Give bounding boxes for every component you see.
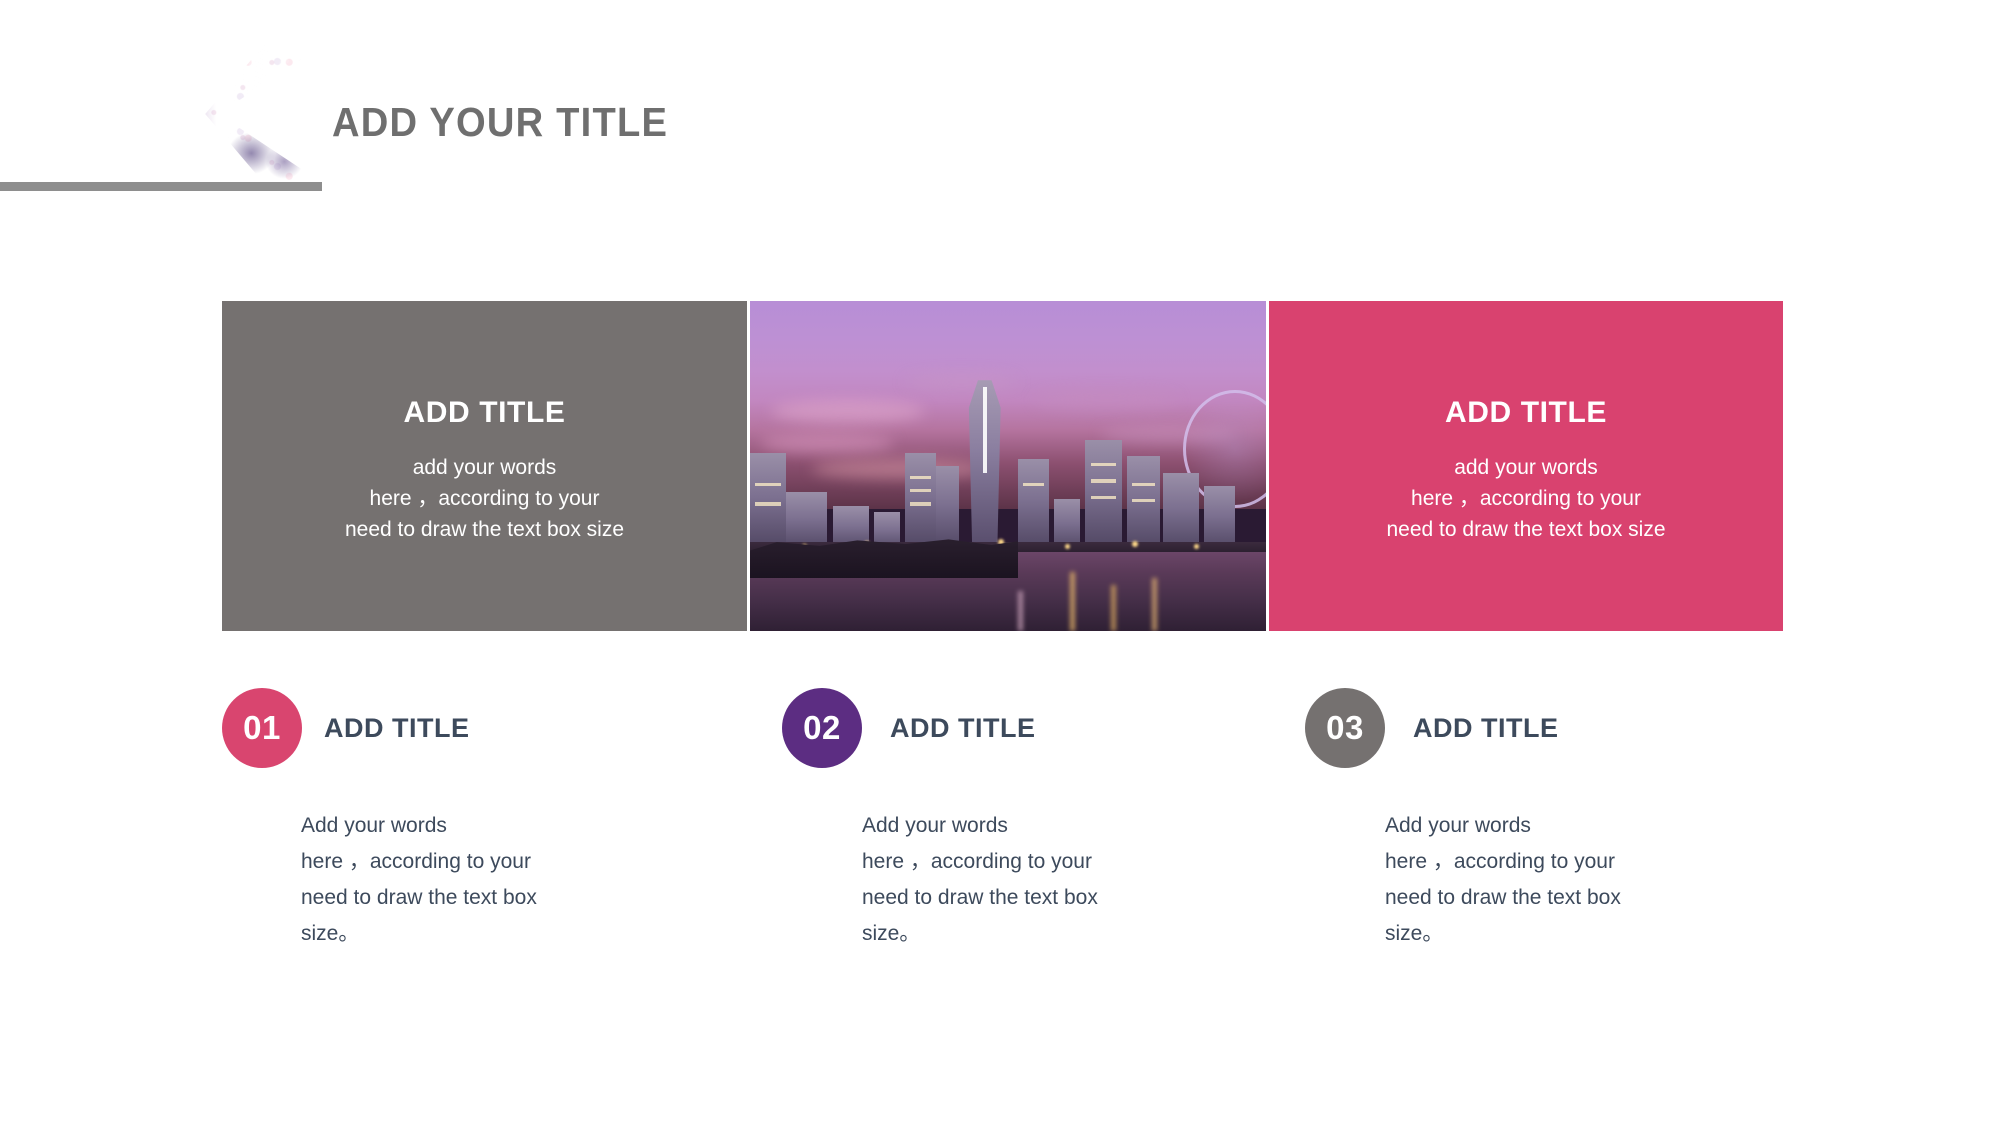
water-reflection <box>1018 591 1023 631</box>
number-badge-03: 03 <box>1305 688 1385 768</box>
panel-gray-text: add your words here ，according to your n… <box>345 452 624 545</box>
item-02-title: ADD TITLE <box>890 713 1036 744</box>
panel-pink-body: ADD TITLE add your words here ，according… <box>1269 301 1783 631</box>
item-01-text: Add your words here ，according to your n… <box>301 808 742 952</box>
numbered-item-03: 03 ADD TITLE Add your words here ，accord… <box>1265 688 1785 952</box>
numbered-item-01: 01 ADD TITLE Add your words here ，accord… <box>222 688 742 952</box>
city-skyline-image <box>750 301 1266 631</box>
window-band <box>1132 483 1155 486</box>
window-band <box>910 489 931 492</box>
window-band <box>1091 496 1117 499</box>
item-03-text: Add your words here ，according to your n… <box>1385 808 1785 952</box>
water-reflection <box>1070 572 1075 631</box>
page-title: ADD YOUR TITLE <box>332 99 668 146</box>
number-badge-01: 01 <box>222 688 302 768</box>
window-band <box>1023 483 1044 486</box>
water-reflection <box>1111 585 1116 631</box>
water-reflection <box>1152 578 1157 631</box>
watercolor-ribbon <box>0 44 324 184</box>
item-03-title: ADD TITLE <box>1413 713 1559 744</box>
window-band <box>755 483 781 486</box>
ribbon-watercolor-darkspots <box>0 44 324 184</box>
tower-highlight <box>983 387 987 473</box>
numbered-items-row: 01 ADD TITLE Add your words here ，accord… <box>222 688 1802 952</box>
panel-gray-title: ADD TITLE <box>403 396 565 430</box>
item-01-title: ADD TITLE <box>324 713 470 744</box>
building <box>936 466 959 552</box>
item-02-head: 02 ADD TITLE <box>742 688 1265 768</box>
window-band <box>910 502 931 505</box>
window-band <box>1132 499 1155 502</box>
item-02-text: Add your words here ，according to your n… <box>862 808 1265 952</box>
window-band <box>1091 463 1117 466</box>
panel-gray-body: ADD TITLE add your words here ，according… <box>222 301 747 631</box>
number-badge-02: 02 <box>782 688 862 768</box>
panel-photo <box>750 301 1266 631</box>
panel-row: ADD TITLE add your words here ，according… <box>222 301 1783 631</box>
cloud <box>760 433 894 453</box>
building <box>1163 473 1199 552</box>
panel-pink-text: add your words here ，according to your n… <box>1387 452 1666 545</box>
item-01-head: 01 ADD TITLE <box>222 688 742 768</box>
cloud <box>771 400 926 423</box>
building <box>1018 459 1049 551</box>
panel-pink-title: ADD TITLE <box>1445 396 1607 430</box>
numbered-item-02: 02 ADD TITLE Add your words here ，accord… <box>742 688 1265 952</box>
window-band <box>910 476 931 479</box>
city-light <box>1194 544 1199 549</box>
window-band <box>755 502 781 505</box>
panel-pink: ADD TITLE add your words here ，according… <box>1269 301 1783 631</box>
cloud <box>905 374 1019 391</box>
panel-gray: ADD TITLE add your words here ，according… <box>222 301 747 631</box>
item-03-head: 03 ADD TITLE <box>1265 688 1785 768</box>
slide-canvas: ADD YOUR TITLE ADD TITLE add your words … <box>0 0 2000 1125</box>
ribbon-shape <box>0 44 324 184</box>
cloud <box>1034 390 1178 410</box>
building <box>1127 456 1161 552</box>
slide-header: ADD YOUR TITLE <box>0 0 700 210</box>
city-light <box>1132 541 1138 547</box>
city-light <box>1065 544 1070 549</box>
window-band <box>1091 479 1117 482</box>
